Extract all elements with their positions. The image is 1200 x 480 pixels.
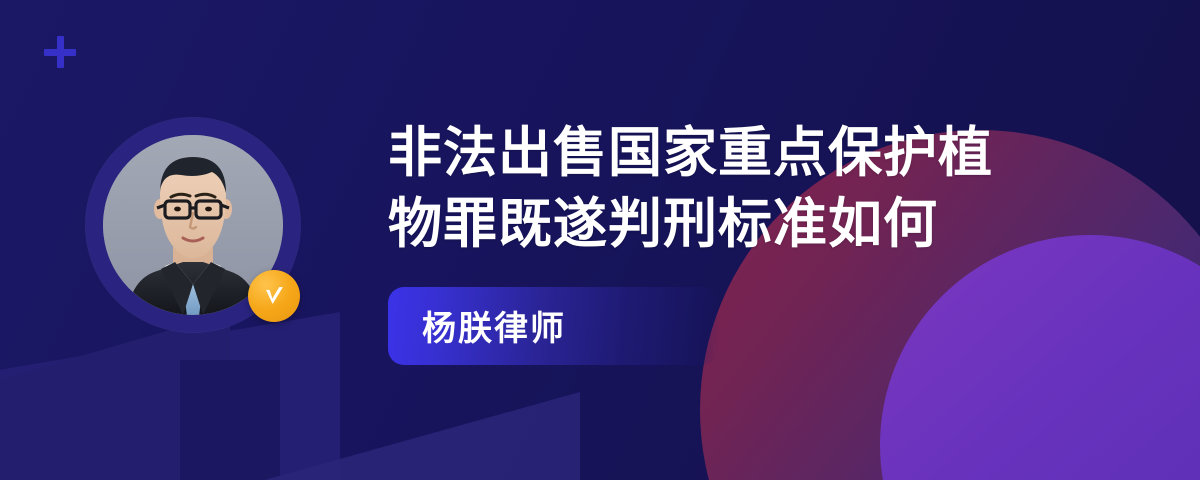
banner-content: 非法出售国家重点保护植 物罪既遂判刑标准如何 杨朕律师 — [388, 118, 1148, 365]
lawyer-qa-banner: 非法出售国家重点保护植 物罪既遂判刑标准如何 杨朕律师 — [0, 0, 1200, 480]
page-title-line-1: 非法出售国家重点保护植 — [388, 123, 993, 183]
lawyer-name-badge[interactable]: 杨朕律师 — [388, 287, 718, 365]
page-title-line-2: 物罪既遂判刑标准如何 — [388, 194, 938, 254]
verified-v-icon — [248, 270, 300, 322]
lawyer-name-label: 杨朕律师 — [422, 301, 566, 350]
avatar[interactable] — [86, 118, 300, 362]
page-title: 非法出售国家重点保护植 物罪既遂判刑标准如何 — [388, 118, 1028, 261]
plus-icon — [44, 36, 76, 68]
